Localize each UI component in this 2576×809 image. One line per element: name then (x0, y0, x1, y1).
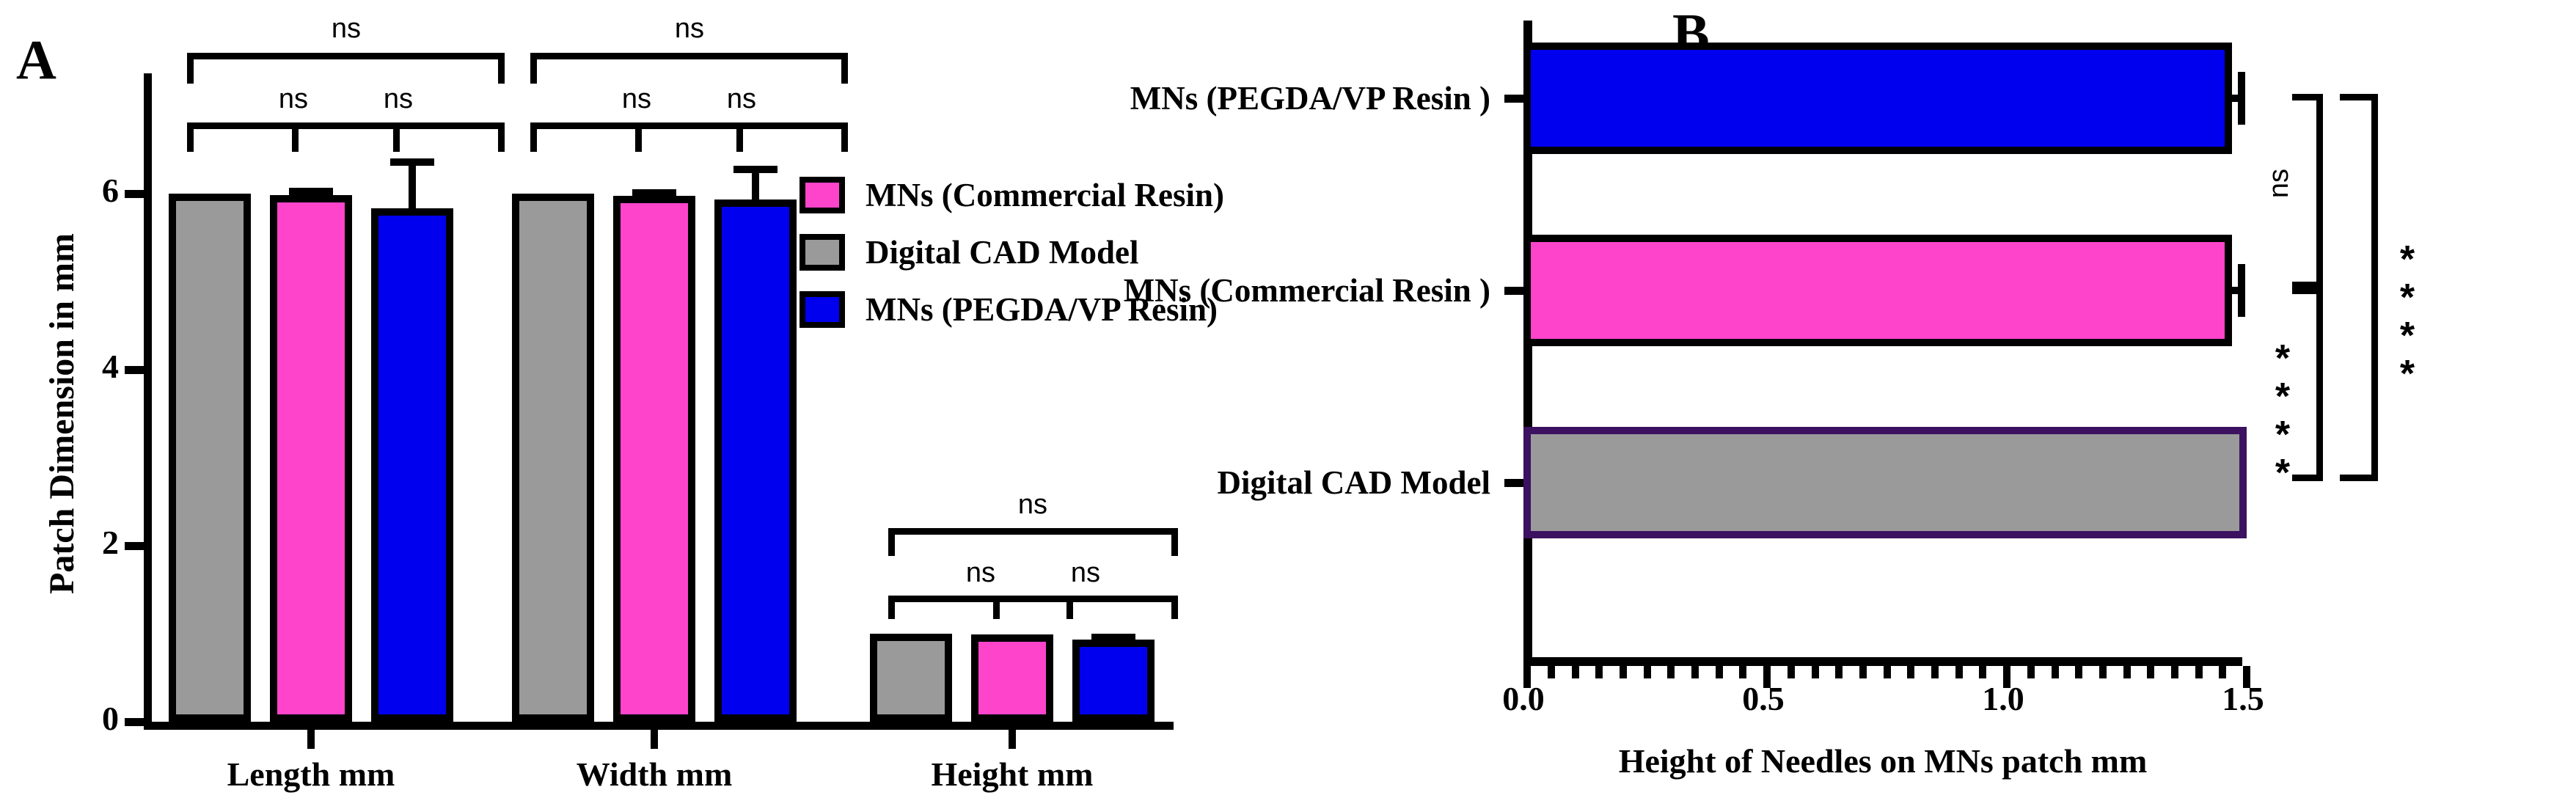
panel-b-x-tick-minor (2075, 666, 2082, 678)
panel-b-x-tick-minor (1788, 666, 1795, 678)
errbar-line-height-pegda (1110, 634, 1117, 643)
bar-height-commercial (971, 634, 1053, 722)
bar-height-pegda (1072, 640, 1155, 722)
panel-a-group-label-length: Length mm (179, 758, 443, 791)
sig-label-b-inner-top: ns (2265, 169, 2293, 198)
panel-b-x-tick-minor (2171, 666, 2178, 678)
sig-label-length-inner-right: ns (325, 85, 472, 113)
errbar-line-width-pegda (752, 166, 759, 202)
panel-a-x-tick-height (1009, 730, 1016, 749)
panel-b-x-tick-minor (2123, 666, 2131, 678)
panel-b-x-tick-minor (1812, 666, 1819, 678)
errbar-cap-commercial-b (2238, 264, 2245, 317)
hbar-pegda (1523, 43, 2232, 154)
panel-b-x-tick-minor (1931, 666, 1939, 678)
hbar-commercial (1523, 235, 2232, 346)
panel-b-x-tick-label-1-5: 1.5 (2184, 682, 2302, 716)
sig-label-width-outer: ns (616, 15, 763, 43)
panel-b-x-tick-minor (2052, 666, 2059, 678)
panel-b-x-tick-minor (1595, 666, 1603, 678)
bar-length-pegda (371, 208, 453, 722)
panel-b-x-tick-minor (1691, 666, 1699, 678)
bar-width-commercial (613, 196, 695, 722)
panel-b-x-tick-minor (2099, 666, 2107, 678)
bar-length-digital-cad (169, 194, 251, 722)
panel-b-cat-label-digital-cad: Digital CAD Model (1218, 464, 1490, 502)
panel-b-x-tick-minor (1955, 666, 1963, 678)
panel-b-x-tick-minor (1835, 666, 1843, 678)
figure-canvas: A 0 2 4 6 Patch Dimension in mm (0, 0, 2576, 809)
sig-label-length-outer: ns (273, 15, 420, 43)
errbar-line-width-commercial (651, 189, 658, 198)
panel-b-x-tick-minor (2195, 666, 2203, 678)
panel-a-y-axis (144, 73, 152, 722)
panel-a-group-label-height: Height mm (880, 758, 1144, 791)
sig-bracket-length-inner-right (292, 122, 505, 152)
panel-a: A 0 2 4 6 Patch Dimension in mm (0, 0, 1298, 809)
panel-a-group-label-width: Width mm (522, 758, 786, 791)
panel-b-x-tick-minor (1979, 666, 1986, 678)
sig-label-height-outer: ns (959, 491, 1106, 519)
legend-swatch-commercial (799, 177, 845, 213)
legend-swatch-digital-cad (799, 234, 845, 271)
panel-b-x-tick-minor (2147, 666, 2154, 678)
panel-b-y-tick-digital-cad (1504, 479, 1523, 487)
panel-b-y-tick-pegda (1504, 95, 1523, 103)
panel-b: B MNs (PEGDA/VP Resin ) MNs (Commercial … (1298, 0, 2576, 809)
legend-label-commercial: MNs (Commercial Resin) (866, 176, 1224, 214)
panel-b-x-tick-minor (1644, 666, 1651, 678)
panel-a-y-tick-2 (125, 542, 144, 550)
panel-b-x-tick-label-1-0: 1.0 (1944, 682, 2062, 716)
panel-b-x-tick-label-0-5: 0.5 (1705, 682, 1822, 716)
panel-a-letter: A (16, 32, 56, 88)
sig-label-width-inner-right: ns (668, 85, 815, 113)
panel-b-x-tick-minor (1572, 666, 1579, 678)
legend-swatch-pegda (799, 291, 845, 328)
panel-b-x-axis-title: Height of Needles on MNs patch mm (1516, 744, 2250, 778)
panel-b-x-tick-minor (1716, 666, 1723, 678)
errbar-cap-pegda-b (2238, 72, 2245, 125)
errbar-line-length-commercial (307, 188, 315, 198)
sig-bracket-b-inner-top (2292, 94, 2323, 288)
bar-width-pegda (714, 199, 797, 722)
panel-a-x-axis (144, 722, 1174, 730)
panel-b-y-tick-commercial (1504, 287, 1523, 295)
panel-a-y-tick-0 (125, 718, 144, 726)
sig-label-height-inner-right: ns (1012, 559, 1159, 587)
sig-bracket-b-outer (2340, 94, 2378, 481)
panel-b-cat-label-pegda: MNs (PEGDA/VP Resin ) (1130, 79, 1490, 117)
panel-b-x-tick-minor (2219, 666, 2226, 678)
panel-b-x-tick-minor (1907, 666, 1914, 678)
panel-a-y-tick-label-0: 0 (67, 702, 119, 736)
panel-b-x-tick-minor (1620, 666, 1627, 678)
panel-b-x-tick-minor (1739, 666, 1746, 678)
panel-b-x-tick-minor (1884, 666, 1891, 678)
panel-b-x-axis (1523, 657, 2242, 666)
panel-b-x-tick-minor (1859, 666, 1867, 678)
panel-b-x-tick-minor (2027, 666, 2035, 678)
sig-bracket-width-outer (530, 53, 848, 84)
hbar-digital-cad (1523, 427, 2247, 538)
panel-b-x-tick-label-0: 0.0 (1465, 682, 1582, 716)
panel-a-y-tick-4 (125, 366, 144, 374)
bar-width-digital-cad (512, 194, 594, 722)
panel-a-x-tick-width (651, 730, 658, 749)
panel-b-cat-label-commercial: MNs (Commercial Resin ) (1124, 271, 1490, 310)
panel-a-y-axis-title: Patch Dimension in mm (45, 179, 80, 648)
legend-item-commercial: MNs (Commercial Resin) (799, 172, 1224, 218)
sig-bracket-length-outer (187, 53, 505, 84)
panel-b-x-tick-minor (1548, 666, 1555, 678)
legend-label-digital-cad: Digital CAD Model (866, 233, 1138, 271)
bar-length-commercial (270, 195, 352, 722)
sig-bracket-height-inner-right (993, 596, 1178, 619)
panel-a-x-tick-length (307, 730, 315, 749)
sig-label-b-outer: **** (2388, 238, 2426, 391)
errbar-line-length-pegda (409, 158, 416, 211)
sig-bracket-height-outer (888, 528, 1178, 556)
legend-item-digital-cad: Digital CAD Model (799, 230, 1224, 275)
bar-height-digital-cad (870, 634, 952, 722)
panel-a-y-tick-6 (125, 190, 144, 198)
panel-b-x-tick-minor (1667, 666, 1675, 678)
sig-label-b-inner-bottom: **** (2264, 337, 2302, 490)
legend: MNs (Commercial Resin) Digital CAD Model… (799, 172, 1224, 344)
sig-bracket-width-inner-right (635, 122, 848, 152)
